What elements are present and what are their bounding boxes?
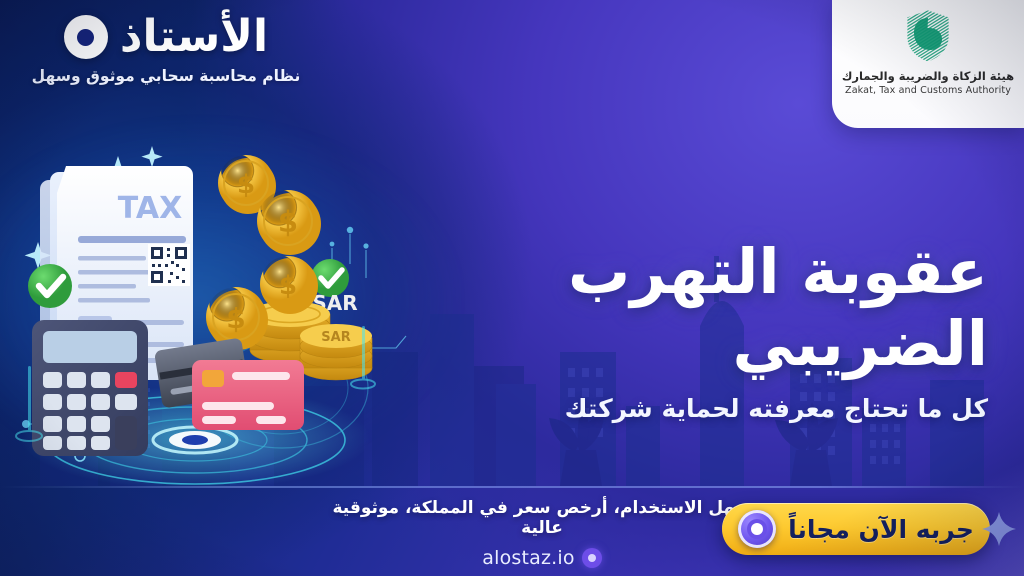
- website-url[interactable]: alostaz.io: [482, 547, 574, 569]
- gold-coin-icon: $: [257, 190, 321, 255]
- alostaz-ring-icon: [582, 548, 602, 568]
- footer-features-text: سهل الاستخدام، أرخص سعر في المملكة، موثو…: [332, 498, 752, 538]
- zatca-authority-card: هيئة الزكاة والضريبة والجمارك Zakat, Tax…: [832, 0, 1024, 128]
- ring-logo-icon: [64, 15, 108, 59]
- brand-tagline: نظام محاسبة سحابي موثوق وسهل: [16, 67, 316, 85]
- four-point-star-icon: [982, 512, 1016, 546]
- coin-sar-label: SAR: [321, 330, 350, 345]
- svg-text:$: $: [226, 302, 245, 335]
- alostaz-ring-icon: [738, 510, 776, 548]
- zatca-name-english: Zakat, Tax and Customs Authority: [845, 85, 1011, 96]
- headline-block: عقوبة التهرب الضريبي كل ما تحتاج معرفته …: [348, 236, 988, 423]
- svg-text:$: $: [237, 170, 255, 200]
- zatca-shield-icon: [905, 9, 951, 63]
- qr-code-icon: [148, 244, 190, 286]
- page-subtitle: كل ما تحتاج معرفته لحماية شركتك: [348, 394, 988, 423]
- promo-banner: TAX: [0, 0, 1024, 576]
- svg-text:$: $: [279, 271, 297, 301]
- document-tax-label: TAX: [118, 191, 182, 226]
- svg-text:$: $: [278, 205, 298, 239]
- zatca-name-arabic: هيئة الزكاة والضريبة والجمارك: [842, 69, 1014, 83]
- footer-url-row[interactable]: alostaz.io: [332, 547, 752, 569]
- try-free-cta-button[interactable]: جربه الآن مجاناً: [722, 503, 990, 555]
- credit-card-pink-icon: [192, 360, 304, 430]
- brand-logo-row: الأستاذ: [16, 14, 316, 60]
- calculator-icon: [32, 320, 148, 456]
- green-check-icon: [28, 264, 72, 308]
- cta-label: جربه الآن مجاناً: [788, 515, 974, 544]
- brand-name: الأستاذ: [120, 14, 268, 60]
- footer-info: سهل الاستخدام، أرخص سعر في المملكة، موثو…: [332, 498, 752, 569]
- brand-logo[interactable]: الأستاذ نظام محاسبة سحابي موثوق وسهل: [16, 14, 316, 85]
- page-title: عقوبة التهرب الضريبي: [348, 236, 988, 380]
